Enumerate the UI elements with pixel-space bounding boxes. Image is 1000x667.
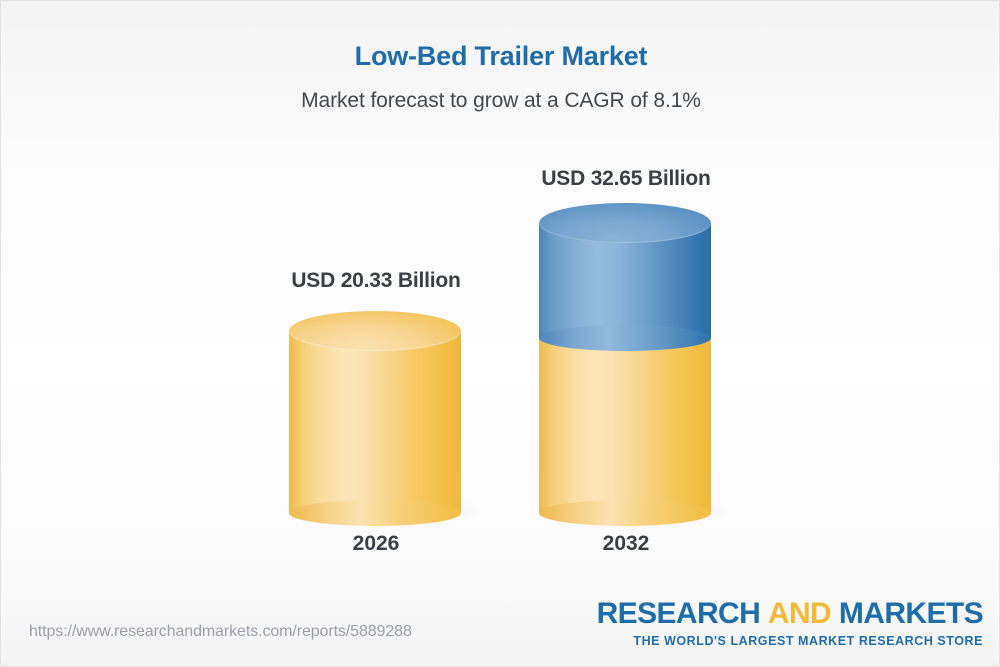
cylinder-top-cap-2032	[539, 203, 711, 243]
category-label-2026: 2026	[276, 532, 476, 556]
cylinder-base-body-2032	[539, 331, 711, 513]
bar-cylinder-2032	[539, 203, 711, 513]
brand-logo[interactable]: RESEARCH AND MARKETS THE WORLD'S LARGEST…	[597, 599, 983, 648]
value-label-2032: USD 32.65 Billion	[526, 167, 726, 191]
logo-word-markets: MARKETS	[839, 597, 983, 630]
page-subtitle: Market forecast to grow at a CAGR of 8.1…	[1, 89, 1000, 113]
logo-wordmark: RESEARCH AND MARKETS	[597, 599, 983, 629]
logo-tagline: THE WORLD'S LARGEST MARKET RESEARCH STOR…	[597, 634, 983, 648]
bar-cylinder-2026	[289, 311, 461, 513]
cylinder-foot-2026	[289, 500, 461, 526]
cylinder-body-2026	[289, 331, 461, 513]
logo-word-and: AND	[768, 597, 831, 630]
category-label-2032: 2032	[526, 532, 726, 556]
cylinder-top-cap-2026	[289, 311, 461, 351]
value-label-2026: USD 20.33 Billion	[276, 269, 476, 293]
page-title: Low-Bed Trailer Market	[1, 41, 1000, 72]
infographic-canvas: Low-Bed Trailer Market Market forecast t…	[0, 0, 1000, 667]
cylinder-foot-2032	[539, 500, 711, 526]
cylinder-segment-junction-2032	[539, 325, 711, 351]
report-url[interactable]: https://www.researchandmarkets.com/repor…	[29, 623, 412, 641]
logo-word-research: RESEARCH	[597, 597, 761, 630]
